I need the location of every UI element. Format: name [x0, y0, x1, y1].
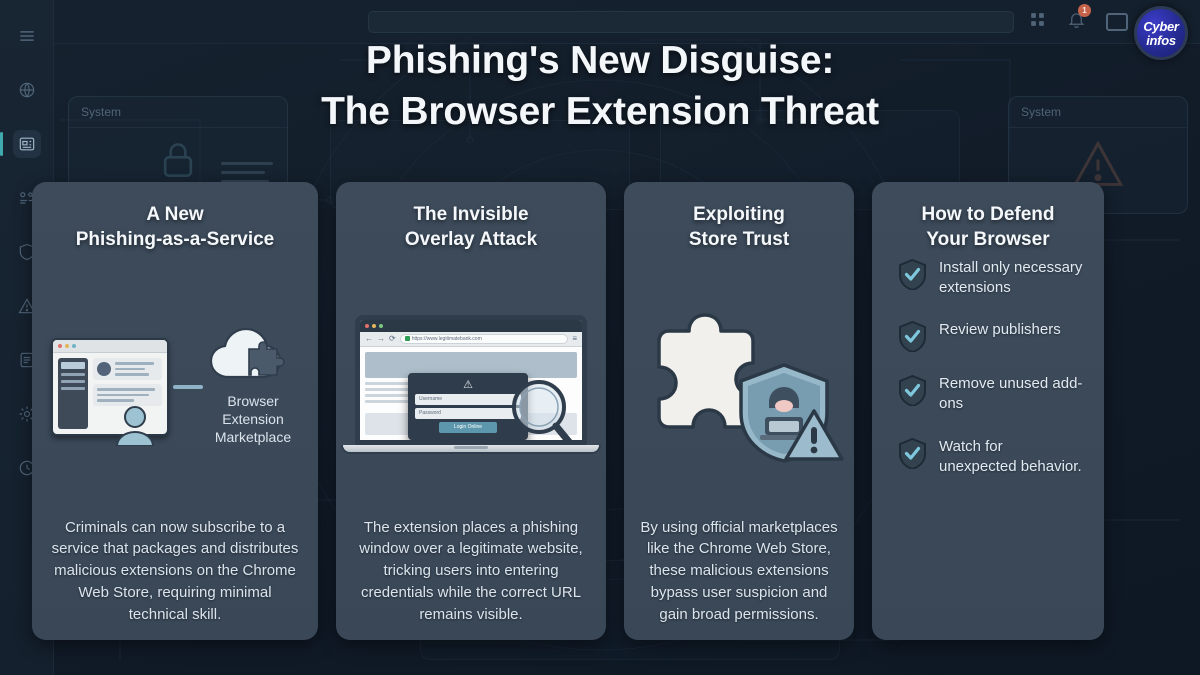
marketplace-label-line3: Marketplace: [215, 429, 291, 445]
logo-line2: infos: [1146, 34, 1176, 47]
marketplace-label-line2: Extension: [222, 411, 283, 427]
connector-line: [173, 385, 203, 389]
card-title: Exploiting Store Trust: [689, 202, 789, 252]
browser-menu-icon[interactable]: ≡: [572, 334, 577, 343]
defense-checklist: Install only necessary extensions Review…: [888, 252, 1088, 477]
logo[interactable]: Cyber infos: [1134, 6, 1188, 60]
profile-icon[interactable]: [1106, 13, 1128, 31]
notification-badge: 1: [1078, 4, 1091, 17]
back-icon[interactable]: ←: [365, 334, 373, 343]
headline-line2: The Browser Extension Threat: [321, 90, 879, 133]
card-illustration: ← → ⟳ https://www.legitimatebank.com ≡: [352, 252, 590, 516]
card-title-line1: Exploiting: [693, 204, 785, 225]
card-title: The Invisible Overlay Attack: [405, 202, 537, 252]
card-title-line2: Phishing-as-a-Service: [76, 229, 275, 250]
magnifier-icon: [508, 377, 576, 445]
card-how-to-defend: How to Defend Your Browser Install only …: [872, 182, 1104, 640]
card-title-line1: How to Defend: [922, 204, 1055, 225]
laptop-illustration: ← → ⟳ https://www.legitimatebank.com ≡: [355, 315, 587, 454]
card-title-line1: The Invisible: [413, 204, 528, 225]
list-item-label: Remove unused add-ons: [939, 374, 1084, 414]
list-item: Remove unused add-ons: [898, 374, 1084, 414]
lock-icon: [156, 139, 200, 183]
notification-bell-icon[interactable]: 1: [1067, 10, 1086, 34]
list-item: Watch for unexpected behavior.: [898, 437, 1084, 477]
cloud-extension-icon: [207, 327, 299, 389]
username-field[interactable]: Username: [415, 394, 521, 405]
forward-icon[interactable]: →: [377, 334, 385, 343]
card-title-line1: A New: [146, 204, 203, 225]
card-title-line2: Your Browser: [926, 229, 1049, 250]
list-item: Review publishers: [898, 320, 1084, 352]
card-body: Criminals can now subscribe to a service…: [48, 517, 302, 626]
reload-icon[interactable]: ⟳: [389, 334, 396, 343]
grid-icon[interactable]: [1028, 10, 1047, 34]
url-text: https://www.legitimatebank.com: [412, 336, 482, 342]
search-input[interactable]: [368, 11, 1014, 33]
list-item-label: Review publishers: [939, 320, 1061, 340]
password-field[interactable]: Password: [415, 408, 521, 419]
shield-check-icon: [898, 437, 927, 469]
card-row: A New Phishing-as-a-Service: [32, 182, 1178, 640]
marketplace-label: Browser Extension Marketplace: [215, 393, 291, 447]
logo-line1: Cyber: [1143, 20, 1178, 33]
browser-url-bar[interactable]: ← → ⟳ https://www.legitimatebank.com ≡: [360, 332, 582, 347]
shield-check-icon: [898, 374, 927, 406]
warning-triangle-icon: [783, 407, 845, 463]
card-phishing-as-a-service: A New Phishing-as-a-Service: [32, 182, 318, 640]
headline-line1: Phishing's New Disguise:: [366, 39, 834, 82]
card-illustration: Browser Extension Marketplace: [48, 252, 302, 516]
list-item: Install only necessary extensions: [898, 258, 1084, 298]
list-item-label: Install only necessary extensions: [939, 258, 1084, 298]
marketplace-label-line1: Browser: [227, 393, 278, 409]
card-title-line2: Store Trust: [689, 229, 789, 250]
card-exploiting-store-trust: Exploiting Store Trust: [624, 182, 854, 640]
login-button[interactable]: Login Online: [439, 422, 497, 433]
page-title: Phishing's New Disguise: The Browser Ext…: [0, 36, 1200, 137]
warning-icon: ⚠: [415, 378, 521, 391]
card-illustration: [640, 252, 838, 516]
card-invisible-overlay-attack: The Invisible Overlay Attack ← → ⟳: [336, 182, 606, 640]
lock-icon: [405, 336, 410, 341]
card-title: A New Phishing-as-a-Service: [76, 202, 275, 252]
card-body: By using official marketplaces like the …: [640, 517, 838, 626]
card-title-line2: Overlay Attack: [405, 229, 537, 250]
card-body: The extension places a phishing window o…: [352, 517, 590, 626]
card-title: How to Defend Your Browser: [922, 202, 1055, 252]
shield-check-icon: [898, 320, 927, 352]
list-item-label: Watch for unexpected behavior.: [939, 437, 1084, 477]
shield-check-icon: [898, 258, 927, 290]
user-avatar-icon: [113, 402, 157, 446]
